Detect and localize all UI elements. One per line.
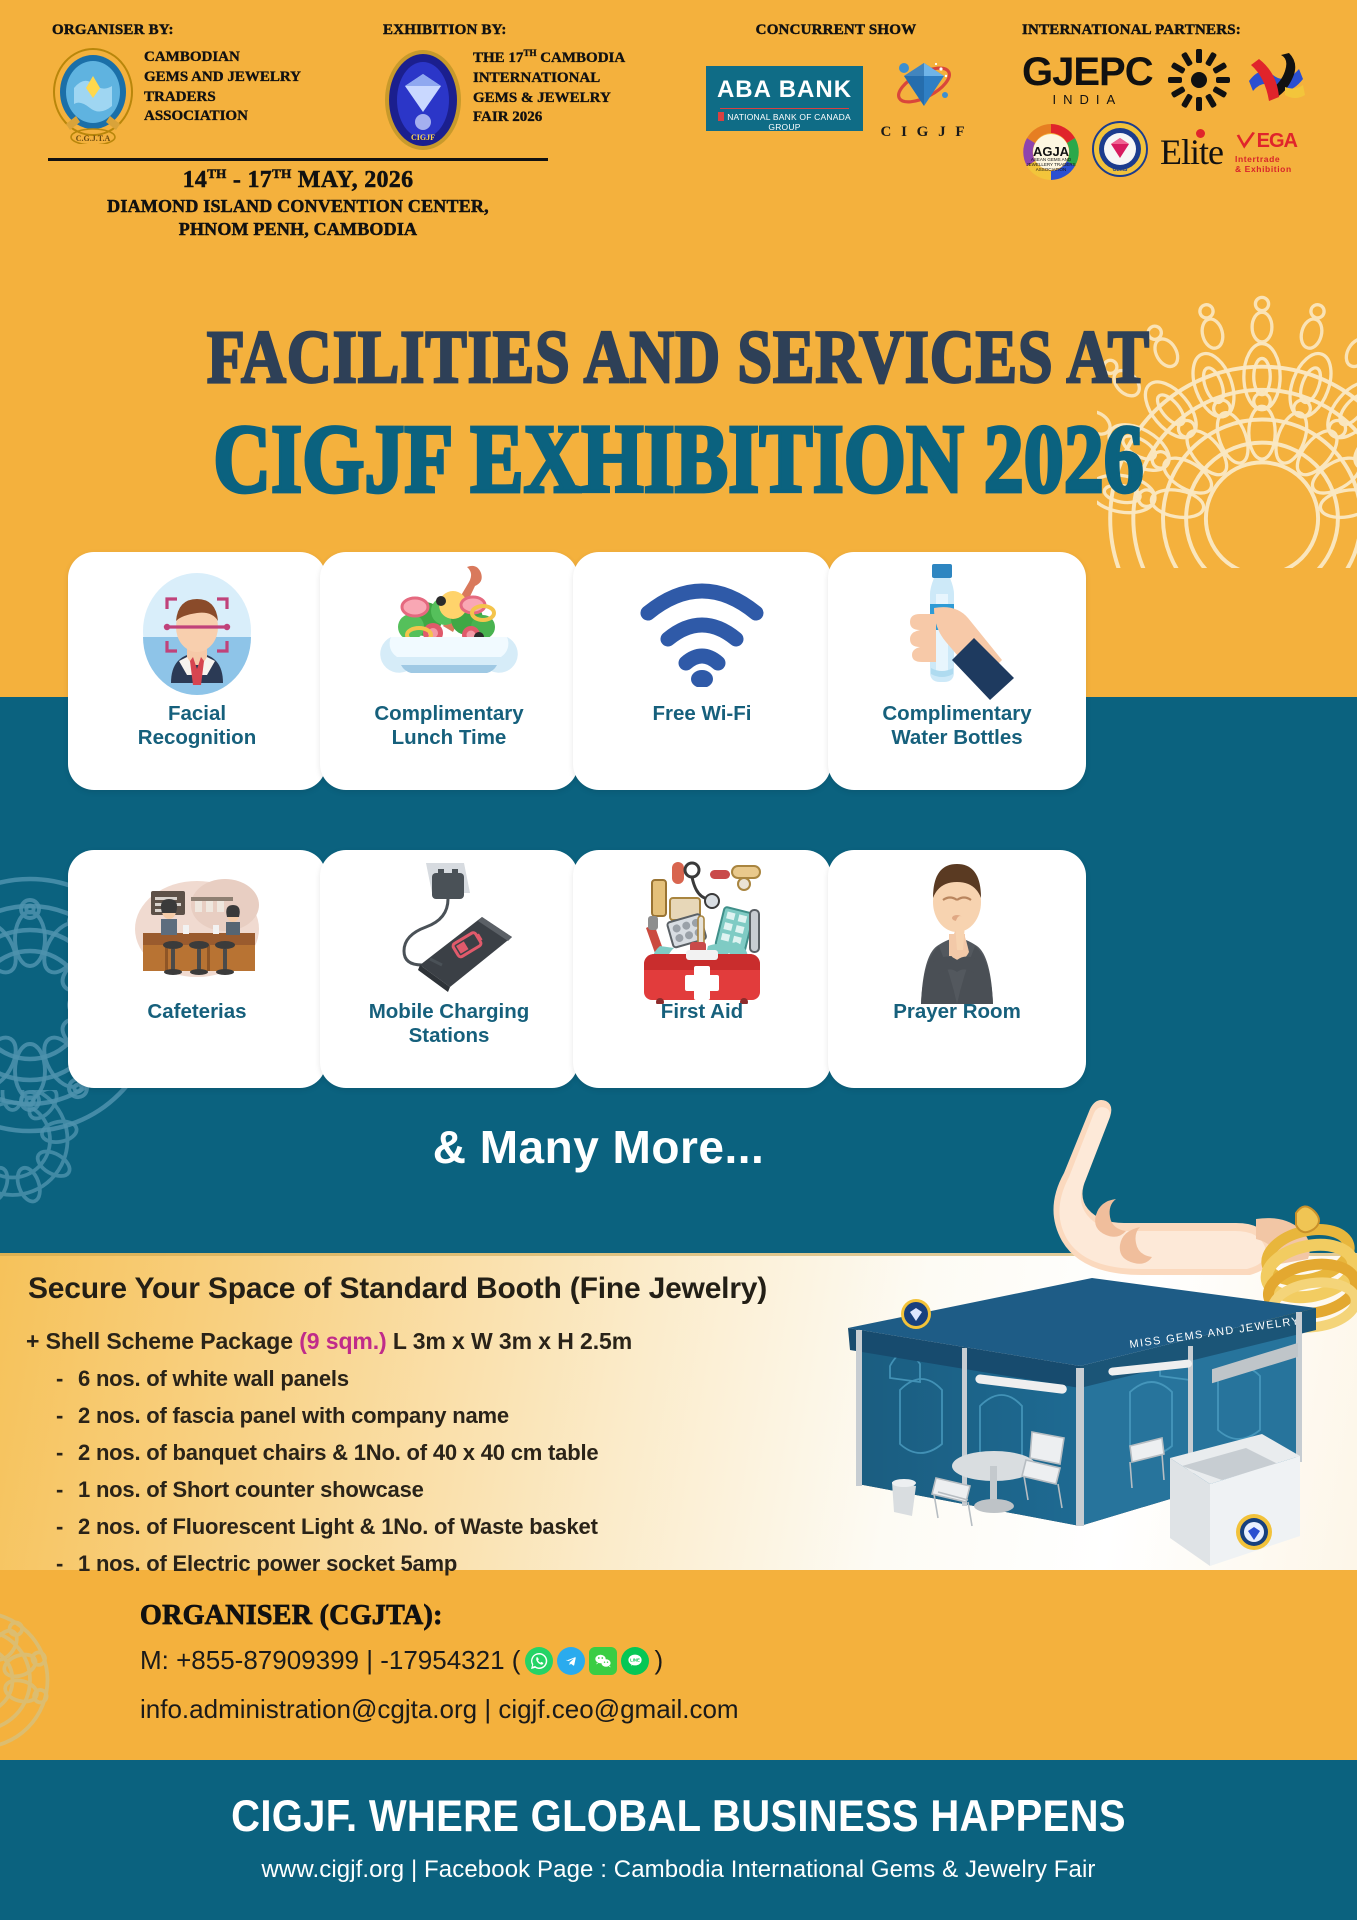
svg-text:LINE: LINE <box>631 1657 641 1662</box>
facility-card-prayer-room[interactable]: Prayer Room <box>828 850 1086 1088</box>
booth-inclusion-item: 2 nos. of banquet chairs & 1No. of 40 x … <box>52 1442 772 1464</box>
facility-card-first-aid[interactable]: First Aid <box>573 850 831 1088</box>
salad-bowl-icon <box>320 552 578 702</box>
booth-inclusion-item: 1 nos. of Electric power socket 5amp <box>52 1553 772 1575</box>
first-aid-kit-icon <box>573 850 831 1000</box>
booth-photo: MISS GEMS AND JEWELRY <box>830 1270 1350 1570</box>
facility-card-complimentary-lunch-time[interactable]: ComplimentaryLunch Time <box>320 552 578 790</box>
line-icon[interactable]: LINE <box>621 1647 649 1675</box>
facility-card-cafeterias[interactable]: Cafeterias <box>68 850 326 1088</box>
facility-label: Free Wi-Fi <box>573 702 831 726</box>
booth-package-line: + Shell Scheme Package (9 sqm.) L 3m x W… <box>26 1328 726 1355</box>
facility-card-facial-recognition[interactable]: FacialRecognition <box>68 552 326 790</box>
facility-label: Mobile ChargingStations <box>320 1000 578 1048</box>
facility-label: Prayer Room <box>828 1000 1086 1024</box>
facility-label: First Aid <box>573 1000 831 1024</box>
booth-heading: Secure Your Space of Standard Booth (Fin… <box>28 1272 767 1306</box>
organiser-emails: info.administration@cgjta.org | cigjf.ce… <box>140 1694 739 1725</box>
booth-package-area: (9 sqm.) <box>299 1328 386 1354</box>
whatsapp-icon[interactable] <box>525 1647 553 1675</box>
facilities-grid: FacialRecognition <box>0 0 1357 1100</box>
phone-charging-icon <box>320 850 578 1000</box>
organiser-phone-numbers: M: +855-87909399 | -17954321 ( <box>140 1645 520 1676</box>
wifi-icon <box>573 552 831 702</box>
facility-card-mobile-charging-stations[interactable]: Mobile ChargingStations <box>320 850 578 1088</box>
booth-inclusion-item: 1 nos. of Short counter showcase <box>52 1479 772 1501</box>
organiser-contact-title: ORGANISER (CGJTA): <box>140 1600 443 1632</box>
footer-tagline: CIGJF. WHERE GLOBAL BUSINESS HAPPENS <box>0 1792 1357 1842</box>
booth-package-dims: L 3m x W 3m x H 2.5m <box>387 1328 632 1354</box>
wechat-icon[interactable] <box>589 1647 617 1675</box>
booth-package-prefix: + Shell Scheme Package <box>26 1328 299 1354</box>
facility-card-complimentary-water-bottles[interactable]: ComplimentaryWater Bottles <box>828 552 1086 790</box>
facial-recognition-icon <box>68 552 326 702</box>
organiser-phone-suffix: ) <box>654 1645 663 1676</box>
facility-label: ComplimentaryWater Bottles <box>828 702 1086 750</box>
poster-root: ORGANISER BY: C.G.J.T.A CAMBODI <box>0 0 1357 1920</box>
messaging-app-icons: LINE <box>525 1647 649 1675</box>
booth-inclusions-list: 6 nos. of white wall panels 2 nos. of fa… <box>52 1368 772 1590</box>
booth-inclusion-item: 6 nos. of white wall panels <box>52 1368 772 1390</box>
footer-links: www.cigjf.org | Facebook Page : Cambodia… <box>0 1856 1357 1884</box>
praying-person-icon <box>828 850 1086 1000</box>
facility-label: Cafeterias <box>68 1000 326 1024</box>
booth-inclusion-item: 2 nos. of Fluorescent Light & 1No. of Wa… <box>52 1516 772 1538</box>
facility-card-free-wifi[interactable]: Free Wi-Fi <box>573 552 831 790</box>
water-bottle-icon <box>828 552 1086 702</box>
cafeteria-icon <box>68 850 326 1000</box>
facility-label: FacialRecognition <box>68 702 326 750</box>
telegram-icon[interactable] <box>557 1647 585 1675</box>
facility-label: ComplimentaryLunch Time <box>320 702 578 750</box>
organiser-phone-line: M: +855-87909399 | -17954321 ( LINE ) <box>140 1645 663 1676</box>
booth-inclusion-item: 2 nos. of fascia panel with company name <box>52 1405 772 1427</box>
